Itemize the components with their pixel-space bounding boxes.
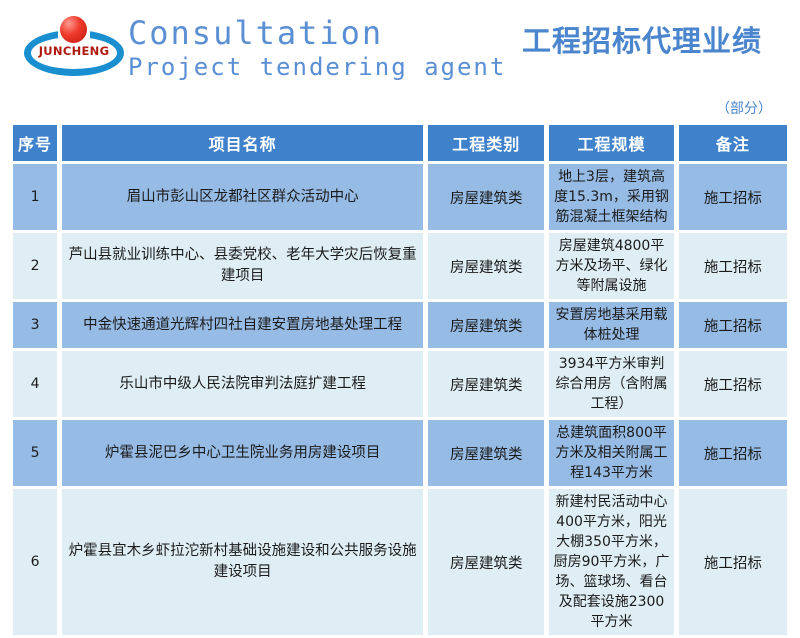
logo-sphere-icon — [60, 16, 87, 43]
table-body: 1 眉山市彭山区龙都社区群众活动中心 房屋建筑类 地上3层，建筑高度15.3m，… — [13, 164, 787, 635]
table-row: 6 炉霍县宜木乡虾拉沱新村基础设施建设和公共服务设施建设项目 房屋建筑类 新建村… — [13, 489, 787, 635]
page-title: 工程招标代理业绩 — [522, 18, 762, 60]
table-row: 4 乐山市中级人民法院审判法庭扩建工程 房屋建筑类 3934平方米审判综合用房（… — [13, 351, 787, 417]
page-header: JUNCHENG Consultation Project tendering … — [0, 0, 800, 95]
cell-remark: 施工招标 — [679, 164, 787, 230]
column-header-index: 序号 — [13, 125, 57, 161]
cell-scale: 房屋建筑4800平方米及场平、绿化等附属设施 — [549, 233, 673, 299]
cell-name: 炉霍县宜木乡虾拉沱新村基础设施建设和公共服务设施建设项目 — [62, 489, 423, 635]
cell-index: 3 — [13, 302, 57, 348]
company-logo: JUNCHENG — [22, 12, 127, 82]
cell-scale: 安置房地基采用载体桩处理 — [549, 302, 673, 348]
cell-type: 房屋建筑类 — [428, 351, 544, 417]
cell-remark: 施工招标 — [679, 489, 787, 635]
cell-name: 乐山市中级人民法院审判法庭扩建工程 — [62, 351, 423, 417]
english-title-line1: Consultation — [128, 14, 506, 52]
cell-type: 房屋建筑类 — [428, 233, 544, 299]
cell-scale: 总建筑面积800平方米及相关附属工程143平方米 — [549, 420, 673, 486]
cell-name: 眉山市彭山区龙都社区群众活动中心 — [62, 164, 423, 230]
logo-brand-text: JUNCHENG — [30, 44, 118, 58]
performance-table: 序号 项目名称 工程类别 工程规模 备注 1 眉山市彭山区龙都社区群众活动中心 … — [8, 122, 792, 638]
partial-note: （部分） — [716, 98, 772, 118]
table-row: 5 炉霍县泥巴乡中心卫生院业务用房建设项目 房屋建筑类 总建筑面积800平方米及… — [13, 420, 787, 486]
column-header-type: 工程类别 — [428, 125, 544, 161]
cell-name: 中金快速通道光辉村四社自建安置房地基处理工程 — [62, 302, 423, 348]
column-header-scale: 工程规模 — [549, 125, 673, 161]
cell-remark: 施工招标 — [679, 302, 787, 348]
table-row: 3 中金快速通道光辉村四社自建安置房地基处理工程 房屋建筑类 安置房地基采用载体… — [13, 302, 787, 348]
cell-type: 房屋建筑类 — [428, 489, 544, 635]
cell-type: 房屋建筑类 — [428, 302, 544, 348]
column-header-name: 项目名称 — [62, 125, 423, 161]
cell-index: 4 — [13, 351, 57, 417]
cell-scale: 新建村民活动中心400平方米，阳光大棚350平方米，厨房90平方米，广场、篮球场… — [549, 489, 673, 635]
table-row: 1 眉山市彭山区龙都社区群众活动中心 房屋建筑类 地上3层，建筑高度15.3m，… — [13, 164, 787, 230]
cell-index: 1 — [13, 164, 57, 230]
cell-scale: 3934平方米审判综合用房（含附属工程） — [549, 351, 673, 417]
cell-type: 房屋建筑类 — [428, 420, 544, 486]
cell-remark: 施工招标 — [679, 351, 787, 417]
cell-name: 炉霍县泥巴乡中心卫生院业务用房建设项目 — [62, 420, 423, 486]
table-row: 2 芦山县就业训练中心、县委党校、老年大学灾后恢复重建项目 房屋建筑类 房屋建筑… — [13, 233, 787, 299]
cell-index: 6 — [13, 489, 57, 635]
cell-name: 芦山县就业训练中心、县委党校、老年大学灾后恢复重建项目 — [62, 233, 423, 299]
column-header-remark: 备注 — [679, 125, 787, 161]
table-header-row: 序号 项目名称 工程类别 工程规模 备注 — [13, 125, 787, 161]
cell-type: 房屋建筑类 — [428, 164, 544, 230]
cell-remark: 施工招标 — [679, 420, 787, 486]
performance-table-wrap: 序号 项目名称 工程类别 工程规模 备注 1 眉山市彭山区龙都社区群众活动中心 … — [8, 122, 792, 638]
cell-remark: 施工招标 — [679, 233, 787, 299]
cell-index: 5 — [13, 420, 57, 486]
cell-scale: 地上3层，建筑高度15.3m，采用钢筋混凝土框架结构 — [549, 164, 673, 230]
english-title: Consultation Project tendering agent — [128, 14, 506, 82]
cell-index: 2 — [13, 233, 57, 299]
english-title-line2: Project tendering agent — [128, 52, 506, 82]
